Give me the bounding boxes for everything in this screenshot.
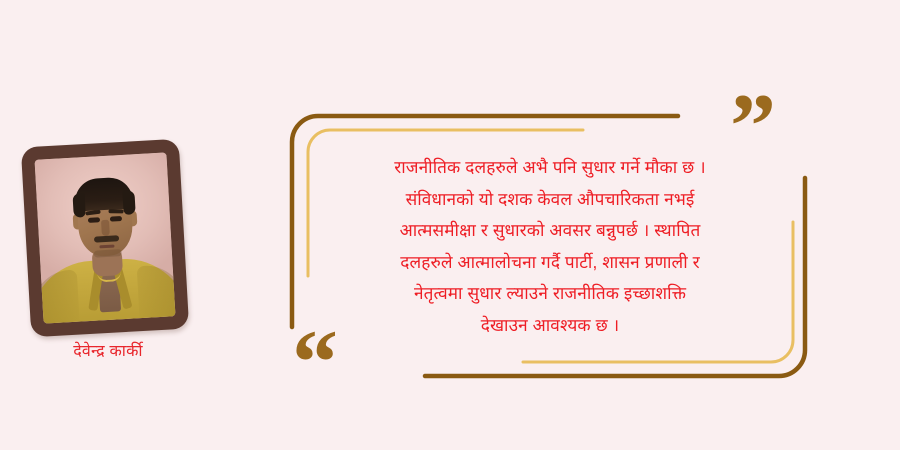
portrait-block: देवेन्द्र कार्की bbox=[26, 143, 186, 338]
quote-text: राजनीतिक दलहरुले अभै पनि सुधार गर्ने मौक… bbox=[300, 152, 800, 341]
quote-line: नेतृत्वमा सुधार ल्याउने राजनीतिक इच्छाशक… bbox=[300, 278, 800, 310]
quote-line: दलहरुले आत्मालोचना गर्दै पार्टी, शासन प्… bbox=[300, 247, 800, 279]
portrait-frame bbox=[21, 139, 189, 338]
quote-card: ” “ राजनीतिक दलहरुले अभै पनि सुधार गर्ने… bbox=[0, 0, 900, 450]
quote-line: संविधानको यो दशक केवल औपचारिकता नभई bbox=[300, 184, 800, 216]
portrait-name: देवेन्द्र कार्की bbox=[20, 339, 196, 361]
quote-line: आत्मसमीक्षा र सुधारको अवसर बन्नुपर्छ । स… bbox=[300, 215, 800, 247]
quote-line: राजनीतिक दलहरुले अभै पनि सुधार गर्ने मौक… bbox=[300, 152, 800, 184]
portrait-photo bbox=[35, 152, 176, 323]
quote-line: देखाउन आवश्यक छ । bbox=[300, 310, 800, 342]
